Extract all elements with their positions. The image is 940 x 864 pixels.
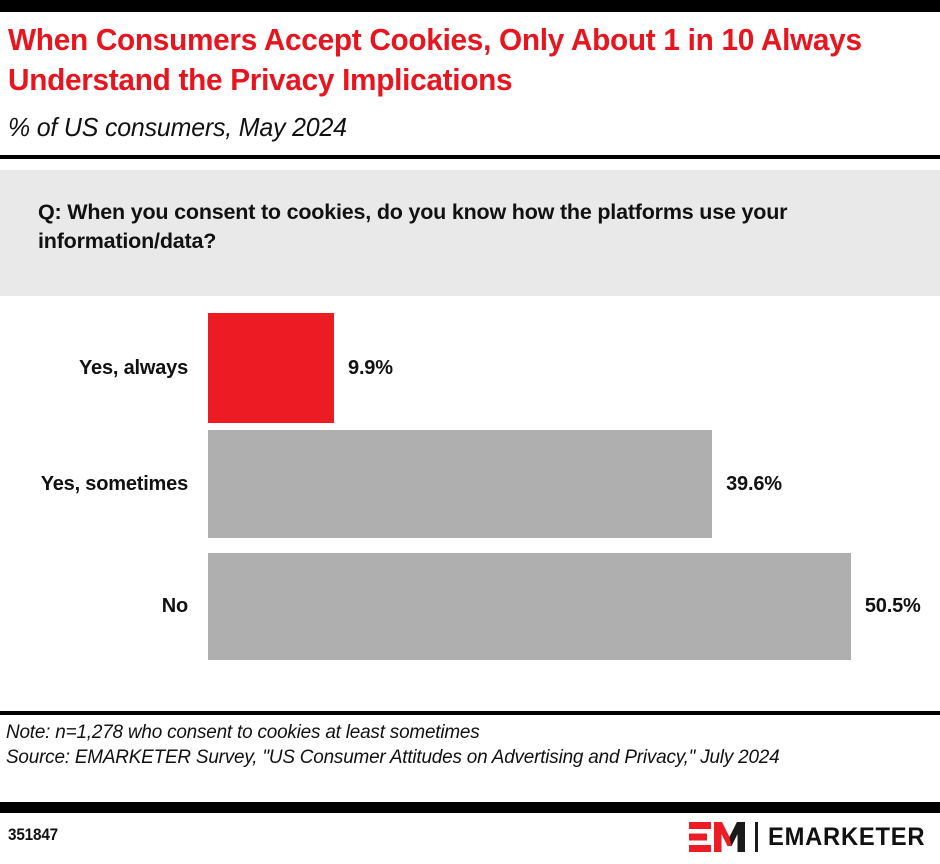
bar-row: Yes, always9.9% <box>0 313 940 423</box>
footer-bar: 351847 EMARKETER <box>0 813 940 864</box>
bar-chart: Yes, always9.9%Yes, sometimes39.6%No50.5… <box>0 296 940 712</box>
footer-divider <box>0 711 940 715</box>
bar-category-label: Yes, sometimes <box>0 430 188 538</box>
bar-row: Yes, sometimes39.6% <box>0 430 940 538</box>
page-title: When Consumers Accept Cookies, Only Abou… <box>8 20 891 100</box>
chart-header: When Consumers Accept Cookies, Only Abou… <box>0 12 940 155</box>
question-band: Q: When you consent to cookies, do you k… <box>0 170 940 296</box>
header-divider <box>0 155 940 159</box>
bar-category-label: Yes, always <box>0 313 188 423</box>
top-rule <box>0 0 940 12</box>
bar-category-label: No <box>0 553 188 660</box>
footnotes: Note: n=1,278 who consent to cookies at … <box>6 720 904 770</box>
bar-2 <box>208 430 712 538</box>
brand-divider <box>755 822 758 852</box>
bar-value-label: 39.6% <box>726 430 782 538</box>
brand-wordmark: EMARKETER <box>768 823 925 852</box>
note-line: Note: n=1,278 who consent to cookies at … <box>6 720 904 745</box>
bar-1 <box>208 313 334 423</box>
chart-id: 351847 <box>8 825 58 845</box>
bar-value-label: 50.5% <box>865 553 921 660</box>
source-line: Source: EMARKETER Survey, "US Consumer A… <box>6 745 904 770</box>
survey-question: Q: When you consent to cookies, do you k… <box>38 198 898 256</box>
bar-value-label: 9.9% <box>348 313 393 423</box>
em-logo-icon <box>689 822 745 852</box>
bottom-rule <box>0 802 940 813</box>
brand-logo[interactable]: EMARKETER <box>689 817 934 857</box>
page-subtitle: % of US consumers, May 2024 <box>8 110 891 144</box>
bar-row: No50.5% <box>0 553 940 660</box>
bar-3 <box>208 553 851 660</box>
